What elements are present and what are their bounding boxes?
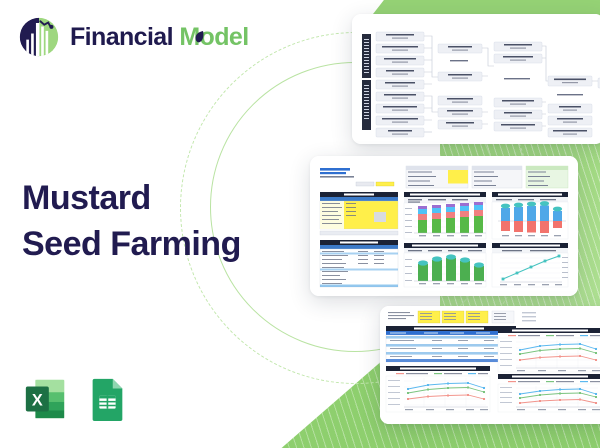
google-sheets-icon[interactable] xyxy=(84,376,130,422)
financial-dashboard-screenshot xyxy=(310,156,578,296)
page-title-line-2: Seed Farming xyxy=(22,225,241,263)
circular-bar-chart-logo-icon xyxy=(18,16,60,58)
preview-card-financial-dashboard[interactable] xyxy=(310,156,578,296)
preview-card-financial-statements[interactable] xyxy=(380,306,600,424)
preview-card-dupont-flowchart[interactable] xyxy=(352,14,600,144)
brand-wordmark: Financial Model xyxy=(70,25,249,50)
brand-lockup[interactable]: Financial Model xyxy=(18,16,249,58)
poster-canvas: Financial Model Mustard Seed Farming X xyxy=(0,0,600,448)
microsoft-excel-icon[interactable]: X xyxy=(22,376,68,422)
brand-word-financial: Financial xyxy=(70,23,173,51)
seed-leaf-icon xyxy=(195,31,204,43)
svg-text:X: X xyxy=(32,392,43,410)
file-format-badges: X xyxy=(22,376,130,422)
page-title: Mustard Seed Farming xyxy=(22,176,241,268)
financial-statements-screenshot xyxy=(380,306,600,424)
brand-word-model: Model xyxy=(179,25,248,50)
page-title-line-1: Mustard xyxy=(22,179,151,217)
dupont-flowchart-screenshot xyxy=(352,14,600,144)
